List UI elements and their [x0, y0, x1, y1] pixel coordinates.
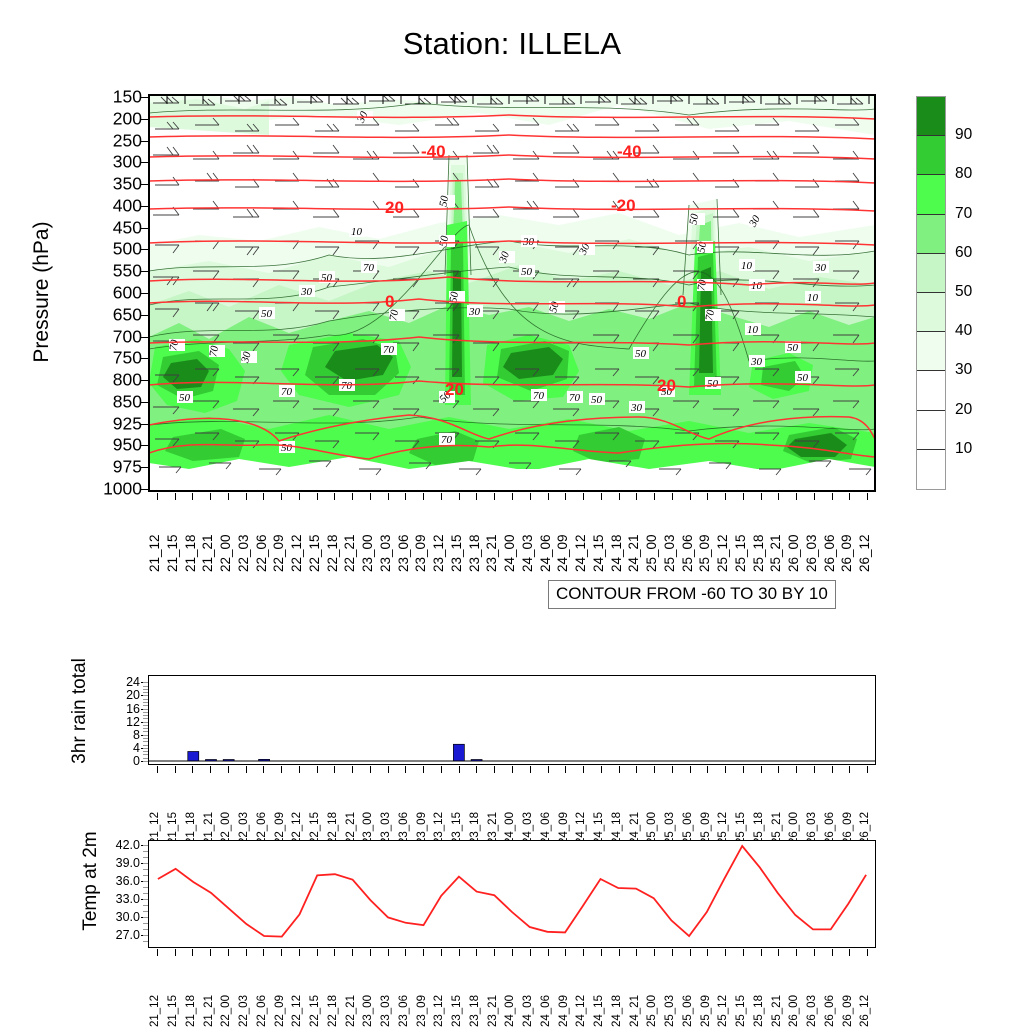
- svg-text:50: 50: [707, 378, 719, 390]
- temp-x-tick-label: 26_00: [788, 995, 800, 1027]
- temp-x-tick: [476, 949, 477, 956]
- temp-x-tick: [725, 949, 726, 956]
- rain-y-tick: 0: [100, 754, 140, 768]
- main-y-tick: 950: [84, 435, 142, 456]
- colorbar-segment: [917, 136, 945, 175]
- rain-x-tick: [210, 766, 211, 773]
- main-x-tick-label: 22_03: [236, 534, 251, 572]
- rain-y-tick: 4: [100, 741, 140, 755]
- temp-x-tick: [157, 949, 158, 956]
- rain-y-tick: 8: [100, 728, 140, 742]
- temp-x-tick-label: 21_21: [203, 995, 215, 1027]
- rain-x-tick: [548, 766, 549, 773]
- main-y-tick: 350: [84, 174, 142, 195]
- temp-x-tick-label: 21_15: [167, 995, 179, 1027]
- isotherm-label-20-b: 20: [657, 376, 676, 395]
- colorbar-tick-label: 40: [955, 322, 972, 340]
- rain-x-tick: [565, 766, 566, 773]
- colorbar-segment: [917, 411, 945, 450]
- main-x-tick: [601, 493, 602, 500]
- colorbar-tick-label: 10: [955, 440, 972, 458]
- svg-text:10: 10: [747, 324, 759, 336]
- main-y-tick: 1000: [84, 479, 142, 500]
- temp-x-tick: [494, 949, 495, 956]
- main-y-tick-mark: [141, 467, 148, 468]
- main-x-tick-label: 23_09: [413, 534, 428, 572]
- temp-x-tick-label: 21_12: [149, 995, 161, 1027]
- svg-text:10: 10: [351, 226, 363, 238]
- temp-x-tick-label: 26_12: [859, 995, 871, 1027]
- svg-text:70: 70: [533, 390, 545, 402]
- main-x-tick-label: 21_21: [200, 534, 215, 572]
- main-x-tick-label: 25_00: [644, 534, 659, 572]
- svg-text:50: 50: [787, 342, 799, 354]
- temp-x-tick: [707, 949, 708, 956]
- temp-x-tick-label: 23_06: [398, 995, 410, 1027]
- temp-x-tick-label: 24_21: [629, 995, 641, 1027]
- main-x-tick: [441, 493, 442, 500]
- main-y-tick-mark: [141, 337, 148, 338]
- rain-x-tick: [476, 766, 477, 773]
- svg-text:70: 70: [441, 434, 453, 446]
- colorbar-segment: [917, 175, 945, 214]
- temp-x-tick-label: 24_03: [522, 995, 534, 1027]
- temp-x-tick-label: 25_09: [700, 995, 712, 1027]
- isotherm-label-0: 0: [385, 292, 394, 311]
- rain-x-tick: [867, 766, 868, 773]
- temp-x-axis-labels: 21_1221_1521_1821_2122_0022_0322_0622_09…: [148, 963, 876, 1027]
- main-x-tick-label: 23_21: [484, 534, 499, 572]
- main-y-tick-labels: 1502002503003504004505005506006507007508…: [84, 94, 142, 492]
- rain-y-tick: 24: [100, 675, 140, 689]
- temp-x-tick: [530, 949, 531, 956]
- main-x-tick: [192, 493, 193, 500]
- colorbar-segment: [917, 293, 945, 332]
- rain-x-axis-labels: 21_1221_1521_1821_2122_0022_0322_0622_09…: [148, 780, 876, 844]
- rain-y-tick-labels: 04812162024: [100, 675, 140, 765]
- temp-x-tick-label: 23_21: [487, 995, 499, 1027]
- main-x-tick: [530, 493, 531, 500]
- main-y-tick-mark: [141, 206, 148, 207]
- temp-x-tick-label: 22_06: [256, 995, 268, 1027]
- main-x-tick-label: 25_03: [662, 534, 677, 572]
- main-x-tick: [690, 493, 691, 500]
- rain-x-tick: [832, 766, 833, 773]
- main-x-tick: [849, 493, 850, 500]
- temp-x-tick: [512, 949, 513, 956]
- rain-x-tick: [654, 766, 655, 773]
- svg-text:70: 70: [569, 392, 581, 404]
- rain-bar: [188, 751, 199, 761]
- temp-x-tick: [743, 949, 744, 956]
- rain-x-tick: [459, 766, 460, 773]
- main-x-tick-label: 23_03: [378, 534, 393, 572]
- rain-x-tick: [228, 766, 229, 773]
- temp-y-tick: 33.0: [96, 892, 140, 906]
- rain-x-tick: [263, 766, 264, 773]
- temp-y-tick: 42.0: [96, 838, 140, 852]
- temp-x-tick-label: 23_18: [469, 995, 481, 1027]
- temperature-panel[interactable]: [148, 840, 876, 948]
- temp-x-tick: [210, 949, 211, 956]
- temp-x-tick-label: 24_15: [593, 995, 605, 1027]
- isotherm-label-m40: -40: [421, 142, 446, 161]
- svg-text:30: 30: [814, 262, 827, 274]
- rain-x-tick: [583, 766, 584, 773]
- main-x-tick: [778, 493, 779, 500]
- temp-x-tick-label: 23_15: [451, 995, 463, 1027]
- temp-x-tick-label: 24_06: [540, 995, 552, 1027]
- main-x-tick-label: 24_00: [502, 534, 517, 572]
- temp-x-tick: [192, 949, 193, 956]
- main-y-tick: 650: [84, 304, 142, 325]
- main-x-tick: [370, 493, 371, 500]
- sounding-time-height-panel[interactable]: 30 10 30 50 50 50 50 70 70 70 70 50 50 3…: [148, 94, 876, 492]
- main-x-tick: [814, 493, 815, 500]
- temp-x-tick: [867, 949, 868, 956]
- colorbar-segment: [917, 97, 945, 136]
- temp-x-tick: [548, 949, 549, 956]
- main-x-tick: [423, 493, 424, 500]
- temp-x-tick: [778, 949, 779, 956]
- main-y-tick-mark: [141, 358, 148, 359]
- rain-x-tick: [743, 766, 744, 773]
- main-x-tick: [743, 493, 744, 500]
- rain-x-tick: [192, 766, 193, 773]
- temp-x-tick-label: 22_21: [345, 995, 357, 1027]
- temp-x-tick: [388, 949, 389, 956]
- svg-text:50: 50: [261, 308, 273, 320]
- temp-x-tick: [281, 949, 282, 956]
- rain-x-tick: [778, 766, 779, 773]
- temp-x-tick: [228, 949, 229, 956]
- temp-x-tick: [459, 949, 460, 956]
- rain-x-tick: [175, 766, 176, 773]
- temp-x-tick: [601, 949, 602, 956]
- main-x-tick-label: 23_18: [467, 534, 482, 572]
- main-y-tick: 250: [84, 130, 142, 151]
- temp-x-tick-label: 22_12: [291, 995, 303, 1027]
- main-x-tick: [299, 493, 300, 500]
- svg-text:50: 50: [179, 392, 191, 404]
- main-x-tick-label: 25_06: [680, 534, 695, 572]
- rain-x-tick: [388, 766, 389, 773]
- page-title: Station: ILLELA: [0, 26, 1024, 62]
- main-x-tick: [476, 493, 477, 500]
- main-x-tick: [352, 493, 353, 500]
- main-x-tick: [636, 493, 637, 500]
- main-x-tick-label: 23_00: [360, 534, 375, 572]
- temp-y-tick: 36.0: [96, 874, 140, 888]
- temp-x-tick-label: 24_00: [504, 995, 516, 1027]
- main-x-tick-label: 22_12: [289, 534, 304, 572]
- temp-x-tick: [334, 949, 335, 956]
- temp-x-tick: [405, 949, 406, 956]
- temp-x-tick: [246, 949, 247, 956]
- colorbar-segment: [917, 254, 945, 293]
- rain-x-tick: [334, 766, 335, 773]
- main-x-tick: [725, 493, 726, 500]
- main-y-tick-mark: [141, 424, 148, 425]
- colorbar-tick-label: 50: [955, 283, 972, 301]
- main-y-tick-mark: [141, 293, 148, 294]
- temp-x-tick: [849, 949, 850, 956]
- main-x-tick-label: 26_12: [857, 534, 872, 572]
- colorbar[interactable]: [916, 96, 946, 490]
- svg-text:70: 70: [363, 262, 375, 274]
- main-x-tick-label: 24_12: [573, 534, 588, 572]
- rain-x-tick-marks: [148, 766, 876, 773]
- rain-x-tick: [157, 766, 158, 773]
- isotherm-label-0-b: 0: [677, 292, 686, 311]
- main-y-tick: 300: [84, 152, 142, 173]
- temp-x-tick-label: 22_09: [274, 995, 286, 1027]
- svg-text:50: 50: [635, 348, 647, 360]
- temp-x-tick-label: 24_09: [558, 995, 570, 1027]
- temp-x-tick: [441, 949, 442, 956]
- isotherm-label-m40-b: -40: [617, 142, 642, 161]
- main-y-tick-mark: [141, 119, 148, 120]
- temp-x-tick: [317, 949, 318, 956]
- temperature-line-plot: [149, 841, 875, 947]
- main-x-tick-label: 26_09: [839, 534, 854, 572]
- temp-x-tick-label: 23_03: [380, 995, 392, 1027]
- rain-x-tick: [405, 766, 406, 773]
- main-x-tick: [210, 493, 211, 500]
- colorbar-tick-label: 60: [955, 244, 972, 262]
- temp-x-tick-label: 22_00: [220, 995, 232, 1027]
- main-x-tick: [654, 493, 655, 500]
- main-x-tick-label: 21_18: [183, 534, 198, 572]
- main-x-tick-label: 24_06: [538, 534, 553, 572]
- svg-text:10: 10: [741, 260, 753, 272]
- main-x-tick-label: 21_15: [165, 534, 180, 572]
- main-x-tick-label: 24_09: [555, 534, 570, 572]
- main-x-tick: [867, 493, 868, 500]
- rain-x-tick: [370, 766, 371, 773]
- main-y-tick-mark: [141, 380, 148, 381]
- temp-x-tick-label: 25_00: [646, 995, 658, 1027]
- main-x-tick: [246, 493, 247, 500]
- temperature-line: [158, 846, 866, 937]
- main-y-tick: 975: [84, 457, 142, 478]
- temp-x-tick: [299, 949, 300, 956]
- temp-x-tick-label: 22_03: [238, 995, 250, 1027]
- temp-x-tick-label: 23_12: [433, 995, 445, 1027]
- rain-x-tick: [494, 766, 495, 773]
- main-x-tick: [334, 493, 335, 500]
- main-y-tick: 600: [84, 283, 142, 304]
- main-y-tick-mark: [141, 445, 148, 446]
- main-x-tick-label: 26_06: [822, 534, 837, 572]
- main-x-tick-label: 25_18: [751, 534, 766, 572]
- rain-x-tick: [352, 766, 353, 773]
- main-y-tick: 550: [84, 261, 142, 282]
- main-x-tick-label: 25_21: [768, 534, 783, 572]
- temp-x-tick: [761, 949, 762, 956]
- svg-text:30: 30: [468, 306, 481, 318]
- main-x-tick-label: 22_00: [218, 534, 233, 572]
- rain-x-tick: [512, 766, 513, 773]
- main-y-tick-mark: [141, 315, 148, 316]
- temp-x-tick: [263, 949, 264, 956]
- temp-x-tick-label: 25_03: [664, 995, 676, 1027]
- main-x-tick-label: 24_21: [626, 534, 641, 572]
- main-x-tick-label: 21_12: [147, 534, 162, 572]
- temp-x-tick: [672, 949, 673, 956]
- temp-x-tick: [423, 949, 424, 956]
- temp-x-tick-marks: [148, 949, 876, 956]
- sounding-plot: 30 10 30 50 50 50 50 70 70 70 70 50 50 3…: [149, 95, 875, 491]
- rain-total-panel[interactable]: [148, 675, 876, 765]
- colorbar-segment: [917, 332, 945, 371]
- temp-x-tick: [796, 949, 797, 956]
- main-y-tick: 750: [84, 348, 142, 369]
- colorbar-segment: [917, 215, 945, 254]
- main-x-tick-label: 24_18: [609, 534, 624, 572]
- temp-x-tick: [175, 949, 176, 956]
- svg-text:50: 50: [797, 372, 809, 384]
- main-x-tick-label: 25_15: [733, 534, 748, 572]
- temp-x-tick-label: 26_09: [842, 995, 854, 1027]
- rain-x-tick: [246, 766, 247, 773]
- rain-x-tick: [619, 766, 620, 773]
- main-x-tick: [796, 493, 797, 500]
- main-y-tick-mark: [141, 489, 148, 490]
- rain-x-tick: [281, 766, 282, 773]
- svg-text:30: 30: [630, 402, 643, 414]
- temp-x-tick-label: 26_06: [824, 995, 836, 1027]
- rain-x-tick: [317, 766, 318, 773]
- temp-x-tick-label: 25_15: [735, 995, 747, 1027]
- temp-x-tick: [352, 949, 353, 956]
- main-x-axis-labels: 21_1221_1521_1821_2122_0022_0322_0622_09…: [148, 508, 876, 572]
- main-y-tick: 500: [84, 239, 142, 260]
- rain-x-tick: [530, 766, 531, 773]
- temp-y-tick-labels: 27.030.033.036.039.042.0: [96, 840, 140, 948]
- main-x-tick: [388, 493, 389, 500]
- main-x-tick: [157, 493, 158, 500]
- colorbar-tick-label: 30: [955, 361, 972, 379]
- temp-x-tick-label: 21_18: [185, 995, 197, 1027]
- temp-x-tick: [619, 949, 620, 956]
- temp-x-tick-label: 24_18: [611, 995, 623, 1027]
- main-x-tick: [459, 493, 460, 500]
- temp-x-tick-label: 25_18: [753, 995, 765, 1027]
- temp-x-tick-label: 22_15: [309, 995, 321, 1027]
- main-x-tick-marks: [148, 493, 876, 500]
- svg-text:70: 70: [341, 380, 353, 392]
- isotherm-label-m20-b: -20: [611, 196, 636, 215]
- main-y-tick: 925: [84, 413, 142, 434]
- temp-x-tick: [565, 949, 566, 956]
- main-x-tick-label: 23_15: [449, 534, 464, 572]
- temp-x-tick: [832, 949, 833, 956]
- main-y-tick: 800: [84, 370, 142, 391]
- main-y-tick-mark: [141, 271, 148, 272]
- rain-x-tick: [796, 766, 797, 773]
- main-x-tick-label: 26_03: [804, 534, 819, 572]
- main-y-tick: 150: [84, 87, 142, 108]
- main-x-tick: [494, 493, 495, 500]
- main-x-tick: [281, 493, 282, 500]
- main-y-tick-mark: [141, 162, 148, 163]
- temp-x-tick-label: 24_12: [575, 995, 587, 1027]
- main-x-tick: [317, 493, 318, 500]
- main-x-tick: [707, 493, 708, 500]
- rain-x-tick: [725, 766, 726, 773]
- contour-note: CONTOUR FROM -60 TO 30 BY 10: [548, 580, 836, 609]
- svg-text:30: 30: [300, 286, 313, 298]
- main-x-tick: [548, 493, 549, 500]
- main-x-tick-label: 22_06: [254, 534, 269, 572]
- temp-y-tick: 30.0: [96, 910, 140, 924]
- rain-x-tick: [672, 766, 673, 773]
- main-x-tick-label: 22_15: [307, 534, 322, 572]
- temp-x-tick-label: 23_00: [362, 995, 374, 1027]
- temp-x-tick-label: 22_18: [327, 995, 339, 1027]
- temp-x-tick-label: 25_06: [682, 995, 694, 1027]
- rain-x-tick: [636, 766, 637, 773]
- svg-text:50: 50: [281, 442, 293, 454]
- main-y-tick-mark: [141, 402, 148, 403]
- main-y-tick-mark: [141, 97, 148, 98]
- temp-y-tick: 27.0: [96, 928, 140, 942]
- main-x-tick: [263, 493, 264, 500]
- colorbar-tick-label: 70: [955, 205, 972, 223]
- svg-text:50: 50: [521, 266, 533, 278]
- svg-text:50: 50: [591, 394, 603, 406]
- isotherm-label-20: 20: [445, 380, 464, 399]
- main-x-tick-label: 22_21: [342, 534, 357, 572]
- main-x-tick: [228, 493, 229, 500]
- colorbar-tick-label: 90: [955, 126, 972, 144]
- main-x-tick: [405, 493, 406, 500]
- main-x-tick-label: 26_00: [786, 534, 801, 572]
- colorbar-segment: [917, 450, 945, 489]
- main-y-tick: 850: [84, 391, 142, 412]
- colorbar-segment: [917, 371, 945, 410]
- temp-x-tick: [690, 949, 691, 956]
- rain-x-tick: [814, 766, 815, 773]
- main-x-tick-label: 25_12: [715, 534, 730, 572]
- main-x-tick: [565, 493, 566, 500]
- rain-x-tick: [849, 766, 850, 773]
- main-y-tick-mark: [141, 184, 148, 185]
- temp-x-tick: [583, 949, 584, 956]
- main-y-tick-mark: [141, 249, 148, 250]
- rain-x-tick: [690, 766, 691, 773]
- main-y-tick: 700: [84, 326, 142, 347]
- temp-x-tick-label: 25_12: [717, 995, 729, 1027]
- rain-x-tick: [441, 766, 442, 773]
- main-x-tick-label: 24_15: [591, 534, 606, 572]
- rain-y-tick: 12: [100, 715, 140, 729]
- main-x-tick: [672, 493, 673, 500]
- temp-x-tick-label: 26_03: [806, 995, 818, 1027]
- temp-x-tick-label: 25_21: [771, 995, 783, 1027]
- main-x-tick: [175, 493, 176, 500]
- rain-x-tick: [601, 766, 602, 773]
- main-y-tick-mark: [141, 141, 148, 142]
- main-x-tick-label: 25_09: [697, 534, 712, 572]
- main-y-tick-mark: [141, 228, 148, 229]
- svg-text:30: 30: [750, 356, 763, 368]
- temp-x-tick: [654, 949, 655, 956]
- temp-x-tick: [370, 949, 371, 956]
- rain-y-tick: 20: [100, 688, 140, 702]
- main-y-tick: 200: [84, 108, 142, 129]
